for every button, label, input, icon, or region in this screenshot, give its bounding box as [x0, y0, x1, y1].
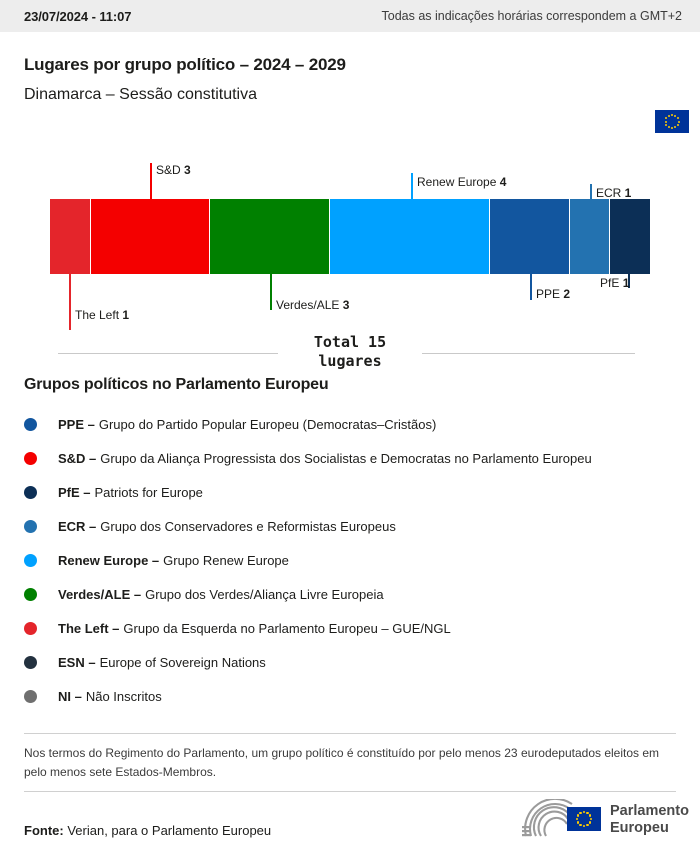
bar-segment-s&d[interactable]: [91, 199, 211, 274]
callout-group-name: S&D: [156, 163, 184, 177]
legend-color-dot-icon: [24, 690, 37, 703]
timezone-note: Todas as indicações horárias corresponde…: [382, 9, 683, 23]
page-subtitle: Dinamarca – Sessão constitutiva: [24, 86, 257, 104]
legend-color-dot-icon: [24, 588, 37, 601]
legend-item-desc: Grupo da Aliança Progressista dos Social…: [100, 451, 591, 466]
legend-color-dot-icon: [24, 554, 37, 567]
legend-item-desc: Grupo dos Conservadores e Reformistas Eu…: [100, 519, 396, 534]
european-parliament-logo: Parlamento Europeu: [520, 797, 680, 841]
parliament-wordmark: Parlamento Europeu: [610, 803, 689, 837]
legend-item-desc: Grupo Renew Europe: [163, 553, 289, 568]
total-seats-line2: lugares: [0, 352, 700, 371]
callout-seat-count: 1: [623, 276, 630, 290]
callout-seat-count: 4: [500, 175, 507, 189]
legend-item[interactable]: PfE –Patriots for Europe: [24, 475, 684, 509]
legend-item-desc: Grupo do Partido Popular Europeu (Democr…: [99, 417, 436, 432]
callout-leader-verdes-ale: [270, 274, 272, 310]
legend-item-abbr: Verdes/ALE –: [58, 587, 141, 602]
legend-color-dot-icon: [24, 452, 37, 465]
legend-color-dot-icon: [24, 622, 37, 635]
source-label: Fonte:: [24, 823, 64, 838]
bar-segment-renew-europe[interactable]: [330, 199, 489, 274]
callout-label-renew-europe: Renew Europe 4: [417, 175, 506, 189]
callout-leader-ppe: [530, 274, 532, 300]
legend-item-desc: Grupo dos Verdes/Aliança Livre Europeia: [145, 587, 383, 602]
callout-leader-renew-europe: [411, 173, 413, 199]
legend-item-abbr: PPE –: [58, 417, 95, 432]
legend-item-desc: Não Inscritos: [86, 689, 162, 704]
callout-label-ecr: ECR 1: [596, 186, 631, 200]
legend-color-dot-icon: [24, 656, 37, 669]
legend-item-abbr: ESN –: [58, 655, 96, 670]
legend-item[interactable]: S&D –Grupo da Aliança Progressista dos S…: [24, 441, 684, 475]
callout-seat-count: 1: [625, 186, 632, 200]
callout-group-name: ECR: [596, 186, 625, 200]
bar-segment-pfe[interactable]: [610, 199, 650, 274]
top-status-bar: 23/07/2024 - 11:07 Todas as indicações h…: [0, 0, 700, 32]
footnote-divider-top: [24, 733, 676, 734]
datetime-label: 23/07/2024 - 11:07: [24, 9, 131, 24]
callout-seat-count: 2: [563, 287, 570, 301]
stacked-bar: [50, 199, 650, 274]
callout-seat-count: 3: [343, 298, 350, 312]
legend-item-desc: Grupo da Esquerda no Parlamento Europeu …: [123, 621, 450, 636]
callout-group-name: PfE: [600, 276, 623, 290]
legend-item-abbr: ECR –: [58, 519, 96, 534]
callout-leader-ecr: [590, 184, 592, 199]
source-value: Verian, para o Parlamento Europeu: [67, 823, 271, 838]
legend-item-abbr: NI –: [58, 689, 82, 704]
legend-item-abbr: PfE –: [58, 485, 91, 500]
source-line: Fonte: Verian, para o Parlamento Europeu: [24, 823, 271, 838]
legend-color-dot-icon: [24, 418, 37, 431]
logo-line-2: Europeu: [610, 820, 689, 837]
callout-group-name: The Left: [75, 308, 122, 322]
bar-segment-the-left[interactable]: [50, 199, 91, 274]
legend-item[interactable]: The Left –Grupo da Esquerda no Parlament…: [24, 611, 684, 645]
legend-color-dot-icon: [24, 486, 37, 499]
seats-stacked-bar-chart: The Left 1S&D 3Verdes/ALE 3Renew Europe …: [0, 150, 700, 330]
total-seats-line1: Total 15: [0, 333, 700, 352]
legend-item-abbr: S&D –: [58, 451, 96, 466]
callout-leader-s&d: [150, 163, 152, 199]
legend-item-abbr: Renew Europe –: [58, 553, 159, 568]
legend-list: PPE –Grupo do Partido Popular Europeu (D…: [24, 407, 684, 713]
total-seats: Total 15 lugares: [0, 333, 700, 371]
callout-label-verdes-ale: Verdes/ALE 3: [276, 298, 349, 312]
legend-color-dot-icon: [24, 520, 37, 533]
bar-segment-ppe[interactable]: [490, 199, 570, 274]
callout-group-name: Verdes/ALE: [276, 298, 343, 312]
callout-seat-count: 1: [122, 308, 129, 322]
legend-item-desc: Europe of Sovereign Nations: [100, 655, 266, 670]
legend-item[interactable]: ESN –Europe of Sovereign Nations: [24, 645, 684, 679]
legend-item-desc: Patriots for Europe: [95, 485, 203, 500]
legend-item[interactable]: Verdes/ALE –Grupo dos Verdes/Aliança Liv…: [24, 577, 684, 611]
legend-item[interactable]: PPE –Grupo do Partido Popular Europeu (D…: [24, 407, 684, 441]
legend-item-abbr: The Left –: [58, 621, 119, 636]
bar-segment-verdes-ale[interactable]: [210, 199, 330, 274]
legend-item[interactable]: NI –Não Inscritos: [24, 679, 684, 713]
eu-flag-icon: [655, 110, 689, 133]
callout-label-s&d: S&D 3: [156, 163, 191, 177]
callout-leader-the-left: [69, 274, 71, 330]
legend-item[interactable]: ECR –Grupo dos Conservadores e Reformist…: [24, 509, 684, 543]
page-title: Lugares por grupo político – 2024 – 2029: [24, 55, 346, 75]
callout-label-pfe: PfE 1: [600, 276, 629, 290]
legend-item[interactable]: Renew Europe –Grupo Renew Europe: [24, 543, 684, 577]
eu-flag-logo-icon: [567, 807, 601, 831]
legend-heading: Grupos políticos no Parlamento Europeu: [24, 376, 328, 394]
callout-group-name: Renew Europe: [417, 175, 500, 189]
callout-label-the-left: The Left 1: [75, 308, 129, 322]
callout-group-name: PPE: [536, 287, 563, 301]
bar-segment-ecr[interactable]: [570, 199, 611, 274]
footnote-text: Nos termos do Regimento do Parlamento, u…: [24, 744, 674, 782]
callout-seat-count: 3: [184, 163, 191, 177]
footnote-divider-bottom: [24, 791, 676, 792]
logo-line-1: Parlamento: [610, 803, 689, 820]
callout-label-ppe: PPE 2: [536, 287, 570, 301]
